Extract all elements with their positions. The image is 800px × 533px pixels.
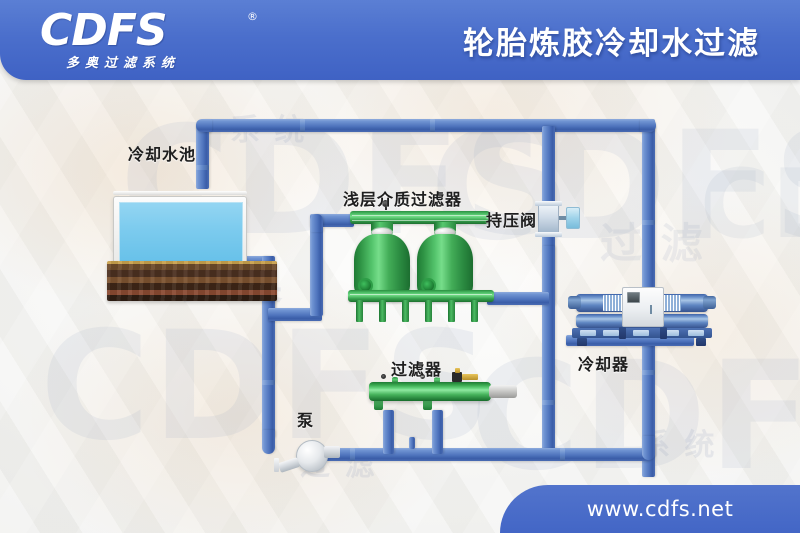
filter-control-box — [452, 372, 462, 382]
logo-subtitle: 多奥过滤系统 — [66, 52, 270, 71]
chiller-support — [660, 327, 667, 339]
chiller-motor-left — [568, 296, 581, 309]
chiller-fin-right — [661, 295, 681, 311]
label-filter: 过滤器 — [391, 356, 442, 380]
manifold-highlight — [352, 215, 488, 216]
pressure-valve-body — [538, 203, 559, 235]
pump-suction-flange — [274, 458, 279, 472]
manifold-highlight — [350, 294, 492, 295]
pipe-joint-ring — [262, 380, 275, 385]
pressure-valve-flange-bottom — [535, 232, 562, 237]
pipe-filter-inlet-elbow — [310, 214, 323, 232]
chiller-base-window — [580, 330, 596, 336]
ground-soil-grain — [107, 261, 277, 301]
vessel-leg — [425, 300, 432, 322]
logo-wordmark: CDFS — [40, 8, 270, 54]
pipe-joint-ring — [542, 400, 555, 405]
pipe-joint-ring — [300, 119, 305, 132]
chiller-base-window — [603, 330, 619, 336]
pipe-elbow-top-left — [196, 119, 212, 132]
ground-soil-layer — [107, 261, 277, 301]
chiller-base-window — [633, 330, 649, 336]
chiller-foot — [696, 338, 706, 346]
chiller-support — [619, 327, 626, 339]
chiller-motor-right — [703, 296, 716, 309]
pipe-joint-ring — [196, 165, 209, 170]
pipe-elbow-bottom-right — [642, 436, 655, 460]
label-cooler: 冷却器 — [578, 351, 629, 375]
brand-logo[interactable]: CDFS ® 多奥过滤系统 — [40, 8, 270, 74]
pipe-filter-inlet-riser — [310, 228, 323, 316]
pipe-joint-ring — [642, 370, 655, 375]
chiller-cabinet-handle — [650, 305, 652, 314]
pipe-top-horizontal — [203, 119, 655, 132]
chiller-foot — [577, 338, 587, 346]
pressure-valve-actuator — [566, 207, 580, 229]
pipe-pressure-valve-lower — [542, 246, 555, 456]
pipe-filter-outlet-horizontal — [487, 292, 549, 305]
watermark-brand: CDFS — [700, 150, 800, 260]
pipe-joint-ring — [350, 448, 355, 461]
label-shallow-media-filter: 浅层介质过滤器 — [343, 186, 462, 210]
label-pressure-sustaining-valve: 持压阀 — [486, 207, 537, 231]
filter-unit-end-cap — [489, 385, 517, 398]
pipe-left-main-elbow — [262, 430, 275, 454]
filter-brass-valve — [455, 368, 460, 373]
diagram-canvas: CDFS CDFS CDFS CDFS 多 奥 过 滤 系 统 过 滤 系 统 … — [0, 0, 800, 533]
watermark-brand: CDFS — [470, 330, 800, 504]
pipe-pool-inlet-vertical — [196, 125, 209, 189]
pipe-filter-unit-riser-left — [383, 410, 394, 454]
label-pump: 泵 — [297, 407, 314, 431]
chiller-fin-left — [603, 295, 623, 311]
pipe-drain-stub — [409, 437, 415, 449]
registered-trademark-icon: ® — [247, 10, 258, 23]
footer-url-text: www.cdfs.net — [567, 497, 734, 521]
chiller-base-window — [688, 330, 704, 336]
filter-unit-body — [369, 382, 491, 401]
vessel-leg — [402, 300, 409, 322]
chiller-display-screen — [627, 292, 640, 303]
pipe-joint-ring — [430, 119, 435, 132]
pressure-valve-flange-top — [535, 201, 562, 206]
pipe-joint-ring — [642, 220, 655, 225]
pipe-joint-ring — [560, 448, 565, 461]
vessel-leg — [356, 300, 363, 322]
filter-brass-fitting — [462, 374, 478, 380]
filter-gauge-icon-left — [381, 374, 386, 379]
vessel-leg — [379, 300, 386, 322]
page-title: 轮胎炼胶冷却水过滤 — [463, 0, 760, 80]
pipe-filter-unit-riser-right — [432, 410, 443, 454]
cooling-pool-water — [119, 202, 243, 270]
vessel-leg — [471, 300, 478, 322]
cooling-pool-rim — [113, 191, 247, 195]
vessel-leg — [448, 300, 455, 322]
footer-url-banner[interactable]: www.cdfs.net — [500, 485, 800, 533]
manifold-highlight — [352, 220, 488, 221]
page-header: CDFS ® 多奥过滤系统 轮胎炼胶冷却水过滤 — [0, 0, 800, 80]
label-cooling-pool: 冷却水池 — [128, 141, 196, 165]
pipe-elbow-top-right — [640, 119, 656, 132]
pump-discharge-nozzle — [324, 446, 340, 458]
